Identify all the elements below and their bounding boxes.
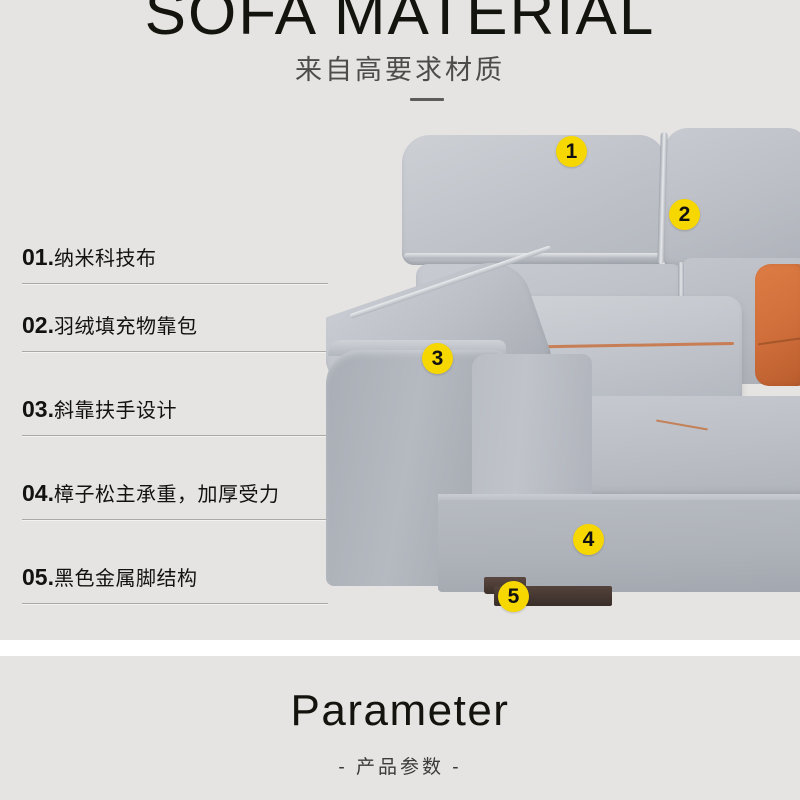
feature-divider: [22, 351, 328, 352]
feature-text: 01.纳米科技布: [22, 242, 156, 271]
callout-badge-5: 5: [498, 581, 529, 612]
accent-pillow: [755, 264, 800, 386]
feature-divider: [22, 435, 328, 436]
feature-label: 纳米科技布: [54, 242, 157, 271]
feature-label: 黑色金属脚结构: [54, 562, 198, 591]
feature-number: 01.: [22, 244, 54, 271]
list-item: 02.羽绒填充物靠包: [22, 290, 328, 352]
headrest-cushion-left: [402, 135, 665, 265]
feature-number: 03.: [22, 396, 54, 423]
feature-divider: [22, 603, 328, 604]
callout-badge-3: 3: [422, 343, 453, 374]
list-item: 04.樟子松主承重，加厚受力: [22, 458, 328, 520]
callout-badge-1: 1: [556, 136, 587, 167]
parameter-section-title: Parameter: [0, 686, 800, 736]
feature-number: 05.: [22, 564, 54, 591]
parameter-section-subtitle: - 产品参数 -: [0, 752, 800, 779]
list-item: 03.斜靠扶手设计: [22, 374, 328, 436]
title-divider-rule: [410, 98, 444, 101]
list-item: 01.纳米科技布: [22, 222, 328, 284]
section-separator: [0, 640, 800, 656]
callout-badge-2: 2: [669, 199, 700, 230]
feature-number: 04.: [22, 480, 54, 507]
feature-text: 02.羽绒填充物靠包: [22, 310, 197, 339]
feature-divider: [22, 519, 328, 520]
product-detail-page: SOFA MATERIAL 来自高要求材质 01.纳米科技布 02.羽绒填充物靠…: [0, 0, 800, 800]
feature-number: 02.: [22, 312, 54, 339]
feature-text: 05.黑色金属脚结构: [22, 562, 197, 591]
sofa-product-image: [326, 128, 800, 628]
seat-cushion: [564, 396, 800, 496]
feature-label: 斜靠扶手设计: [54, 394, 177, 423]
feature-label: 羽绒填充物靠包: [54, 310, 198, 339]
feature-text: 04.樟子松主承重，加厚受力: [22, 478, 279, 507]
callout-badge-4: 4: [573, 524, 604, 555]
headrest-cushion-right: [664, 128, 800, 268]
material-section-subtitle: 来自高要求材质: [0, 48, 800, 87]
material-section-title: SOFA MATERIAL: [0, 0, 800, 49]
material-section: SOFA MATERIAL 来自高要求材质 01.纳米科技布 02.羽绒填充物靠…: [0, 0, 800, 640]
list-item: 05.黑色金属脚结构: [22, 542, 328, 604]
feature-text: 03.斜靠扶手设计: [22, 394, 177, 423]
feature-divider: [22, 283, 328, 284]
feature-label: 樟子松主承重，加厚受力: [54, 478, 280, 507]
